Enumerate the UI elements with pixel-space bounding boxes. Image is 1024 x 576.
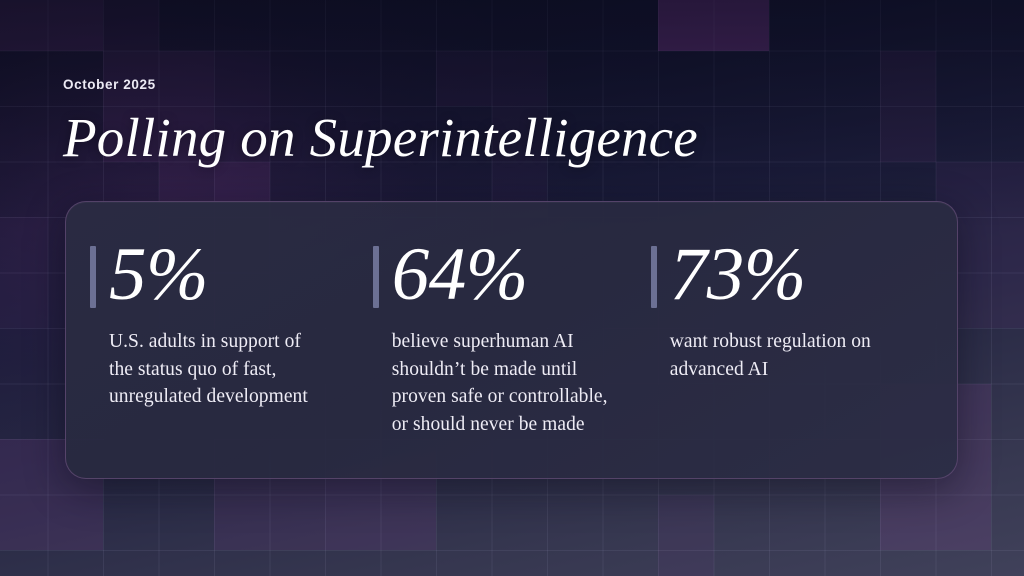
stat-description-line: advanced AI [670,356,923,384]
slide-root: October 2025 Polling on Superintelligenc… [0,0,1024,576]
stat-description-3: want robust regulation onadvanced AI [670,328,923,383]
stat-description-line: proven safe or controllable, [392,383,651,411]
accent-bar-icon [651,246,657,308]
stats-row: 5% U.S. adults in support ofthe status q… [66,202,957,478]
stat-description-line: or should never be made [392,411,651,439]
stat-description-line: the status quo of fast, [109,356,373,384]
accent-bar-icon [373,246,379,308]
stat-block-3: 73% want robust regulation onadvanced AI [651,240,923,383]
stat-description-line: shouldn’t be made until [392,356,651,384]
date-label: October 2025 [63,78,698,92]
stat-value-2: 64% [392,240,651,309]
stat-block-2: 64% believe superhuman AIshouldn’t be ma… [373,240,651,438]
stat-block-1: 5% U.S. adults in support ofthe status q… [90,240,373,411]
stat-value-3: 73% [670,240,923,309]
stat-description-line: unregulated development [109,383,373,411]
page-title: Polling on Superintelligence [63,109,698,166]
slide-header: October 2025 Polling on Superintelligenc… [63,78,698,166]
stat-description-line: believe superhuman AI [392,328,651,356]
stat-value-1: 5% [109,240,373,309]
stat-description-line: want robust regulation on [670,328,923,356]
stats-card: 5% U.S. adults in support ofthe status q… [65,201,958,479]
accent-bar-icon [90,246,96,308]
stat-description-2: believe superhuman AIshouldn’t be made u… [392,328,651,438]
stat-description-line: U.S. adults in support of [109,328,373,356]
stat-description-1: U.S. adults in support ofthe status quo … [109,328,373,411]
